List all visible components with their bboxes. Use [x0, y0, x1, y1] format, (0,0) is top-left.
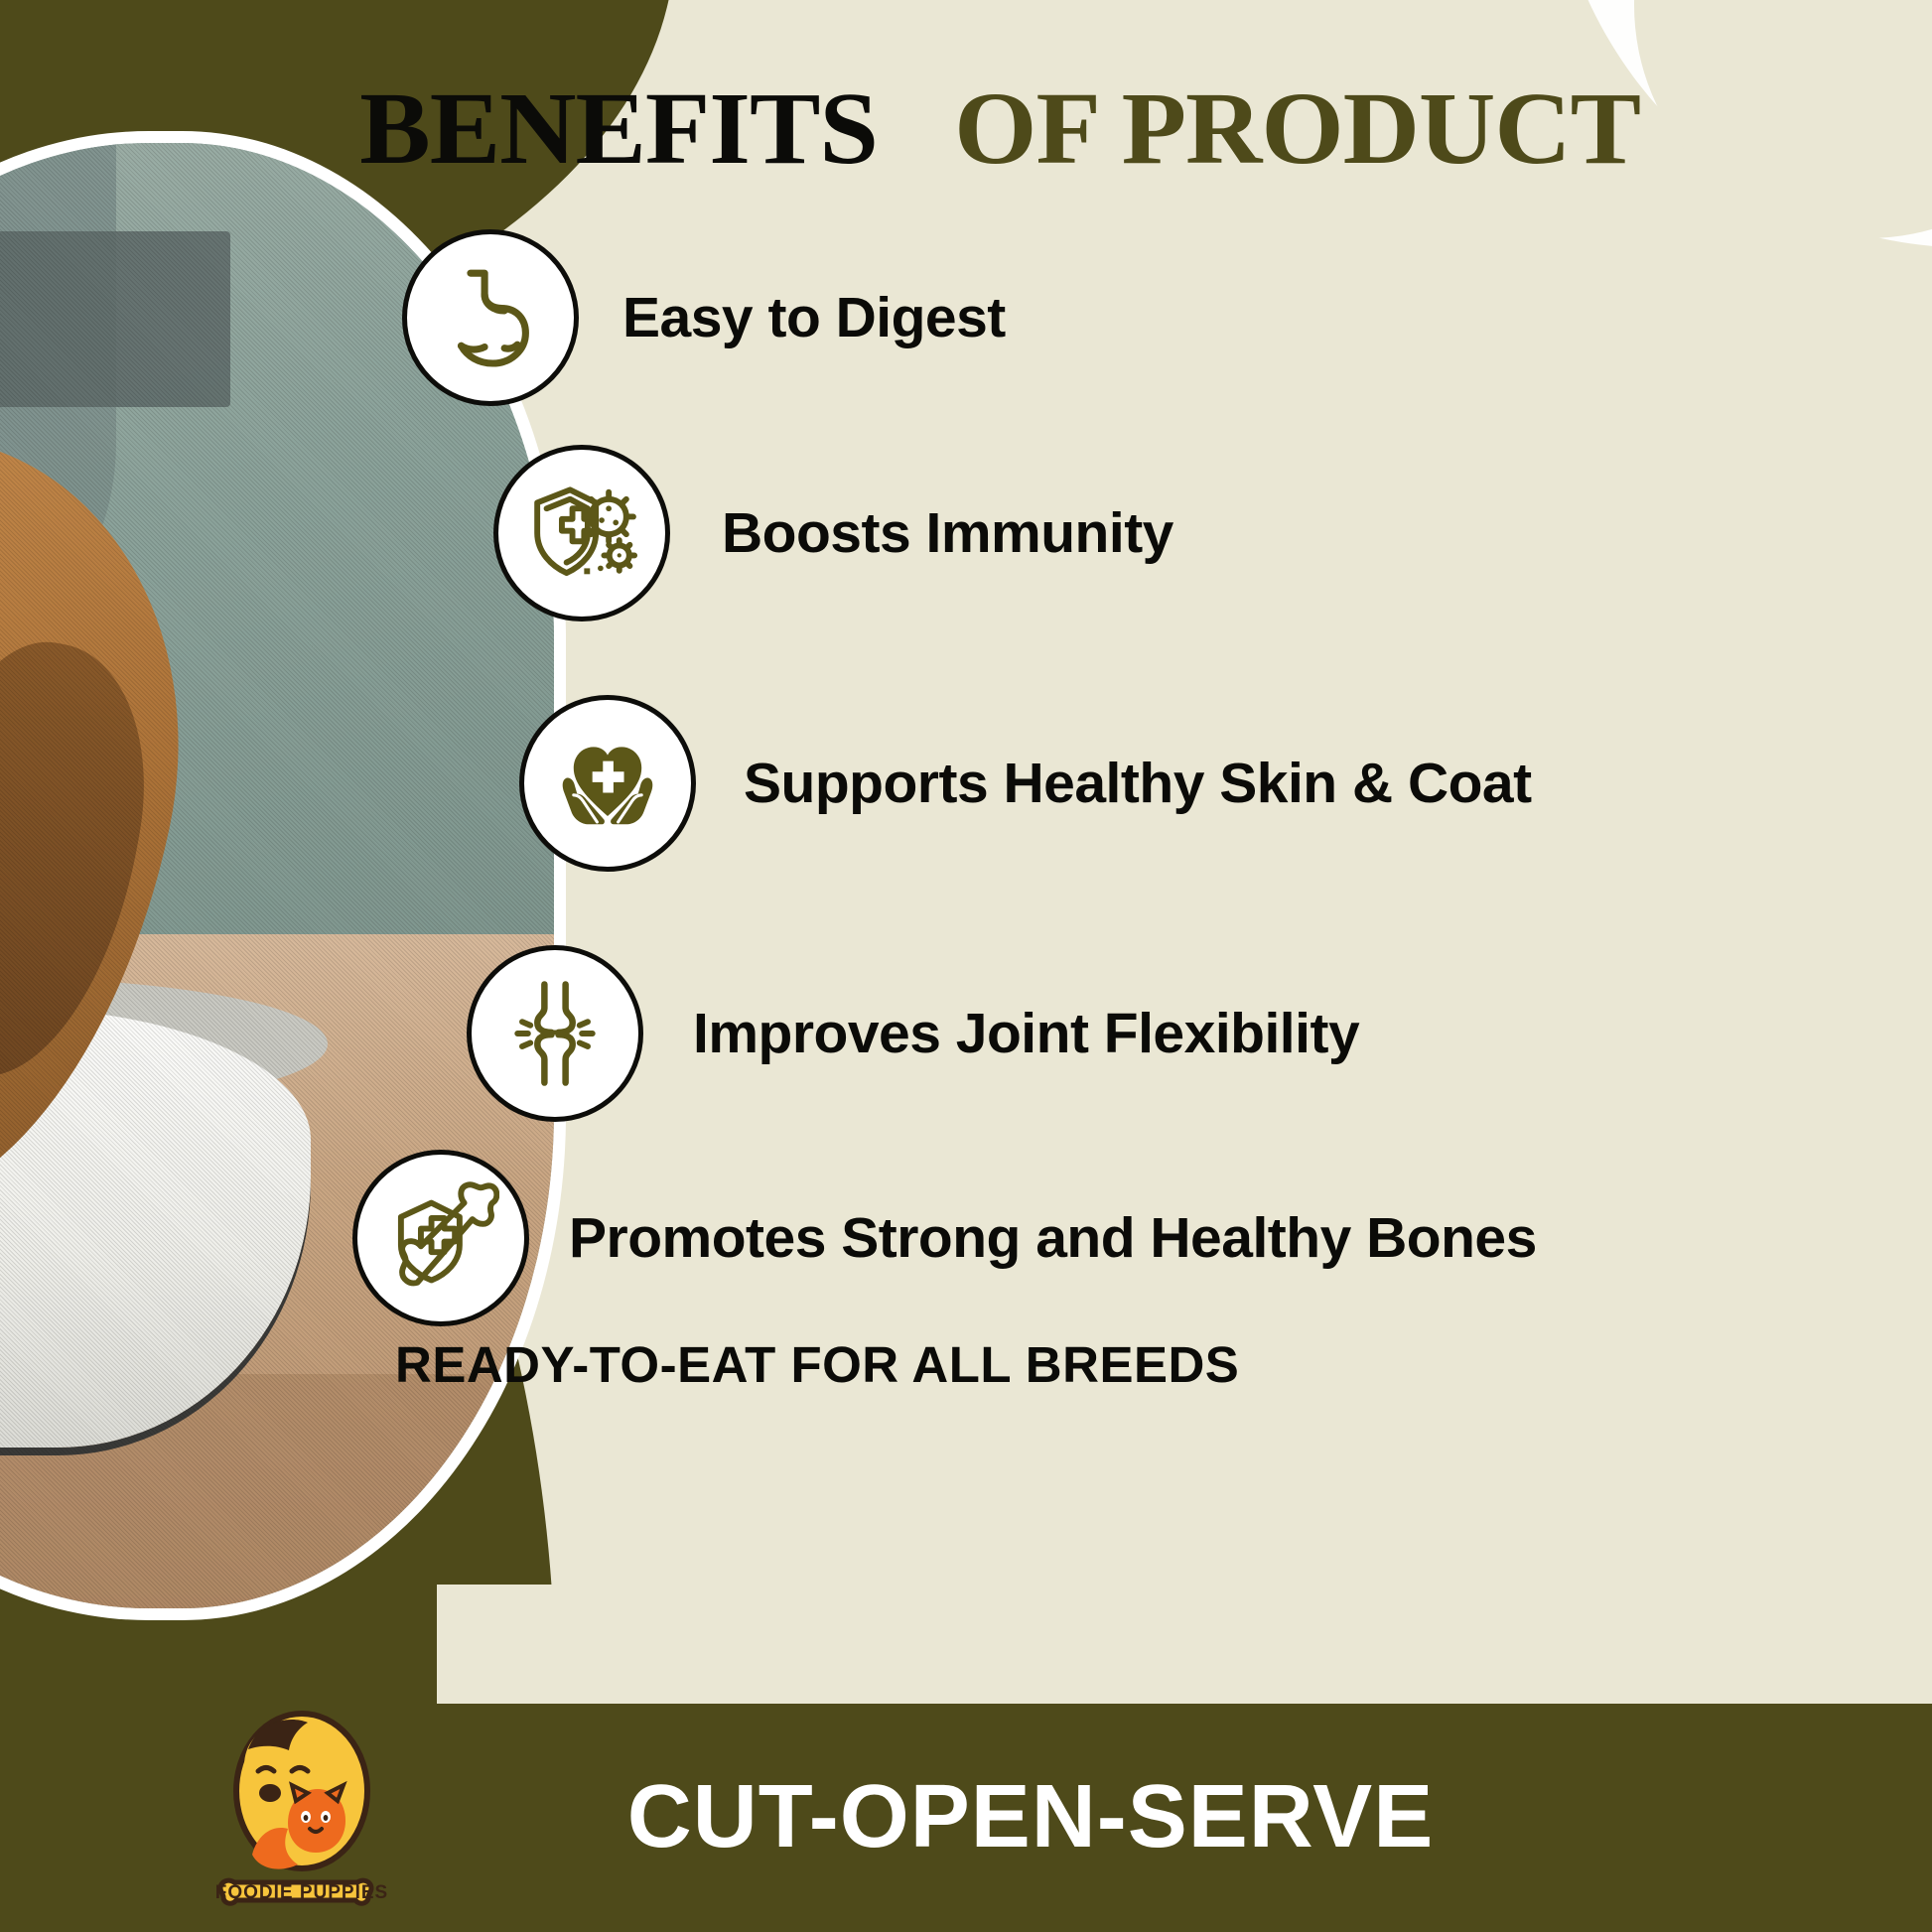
benefit-label: Improves Joint Flexibility — [693, 1001, 1359, 1066]
bone-shield-icon — [382, 1179, 499, 1297]
benefit-label: Promotes Strong and Healthy Bones — [569, 1205, 1537, 1271]
benefit-row-strong-bones[interactable]: Promotes Strong and Healthy Bones — [352, 1150, 1537, 1326]
brand-logo[interactable]: FOODIE PUPPIES — [214, 1706, 389, 1914]
logo-bone-nameplate: FOODIE PUPPIES — [215, 1880, 388, 1903]
foodie-puppies-logo-icon: FOODIE PUPPIES — [214, 1706, 389, 1914]
benefit-icon-bubble — [519, 695, 696, 872]
benefit-row-easy-to-digest[interactable]: Easy to Digest — [402, 229, 1006, 406]
svg-text:FOODIE PUPPIES: FOODIE PUPPIES — [215, 1882, 388, 1903]
benefits-poster: BENEFITS OF PRODUCT Easy to Digest — [0, 0, 1932, 1932]
benefit-label: Supports Healthy Skin & Coat — [744, 751, 1532, 816]
benefit-row-joint-flexibility[interactable]: Improves Joint Flexibility — [467, 945, 1359, 1122]
heart-in-hands-icon — [549, 725, 666, 842]
benefit-label: Boosts Immunity — [722, 500, 1173, 566]
benefit-icon-bubble — [352, 1150, 529, 1326]
benefit-row-boosts-immunity[interactable]: Boosts Immunity — [493, 445, 1173, 621]
bone-joint-icon — [496, 975, 614, 1092]
shield-virus-icon — [523, 475, 640, 592]
benefit-row-skin-and-coat[interactable]: Supports Healthy Skin & Coat — [519, 695, 1532, 872]
benefit-icon-bubble — [493, 445, 670, 621]
title-lead: BENEFITS — [359, 71, 878, 186]
page-title: BENEFITS OF PRODUCT — [359, 77, 1566, 181]
tagline: READY-TO-EAT FOR ALL BREEDS — [395, 1335, 1239, 1394]
benefit-icon-bubble — [402, 229, 579, 406]
title-tail: OF PRODUCT — [954, 71, 1640, 186]
benefit-icon-bubble — [467, 945, 643, 1122]
footer-diagonal-notch — [278, 0, 516, 2]
benefit-label: Easy to Digest — [622, 285, 1006, 350]
stomach-icon — [432, 259, 549, 376]
